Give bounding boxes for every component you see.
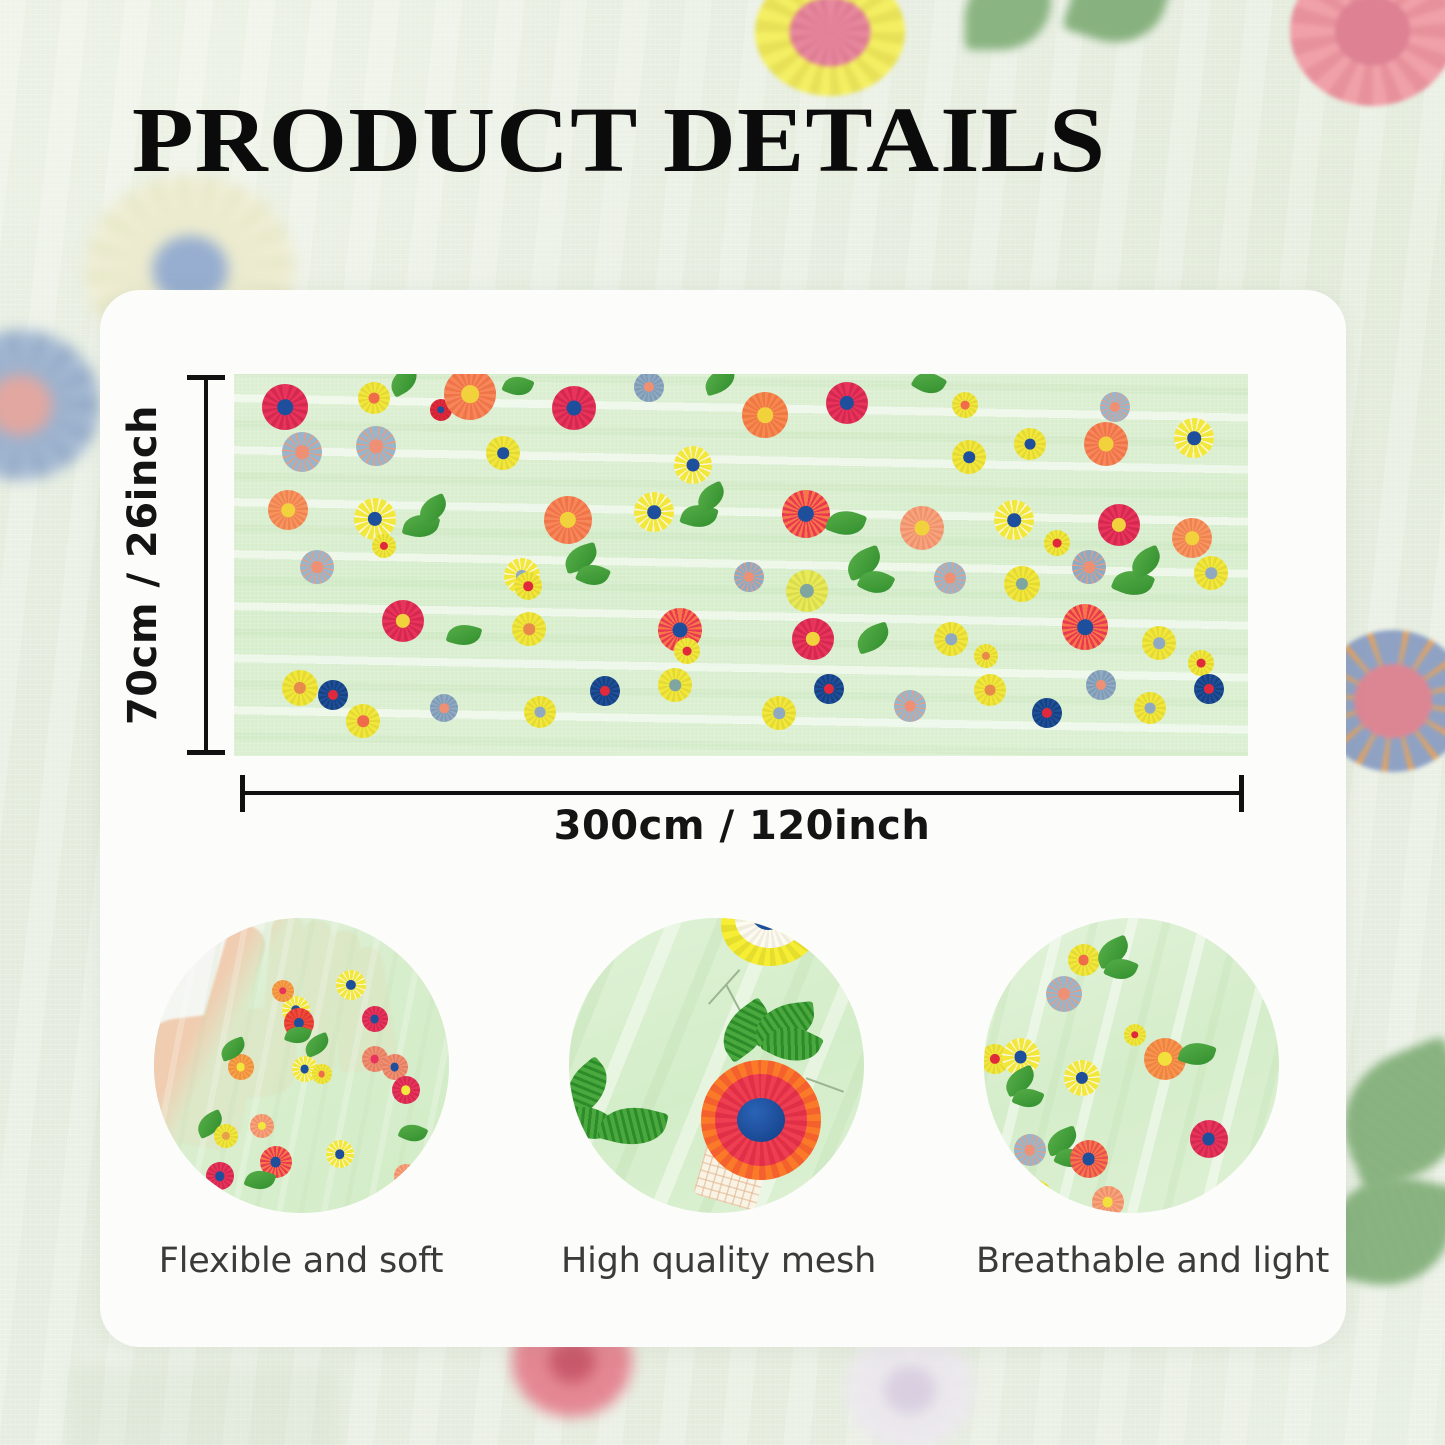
embroidered-flower [1134,692,1166,724]
embroidered-flower-large-center-blue [737,1098,785,1142]
feature-image-breathable-and-light [984,918,1279,1213]
embroidered-flower [674,638,700,664]
embroidered-flower [742,392,788,438]
feature-caption: Flexible and soft [146,1241,456,1281]
embroidered-flower [354,498,396,540]
embroidered-flower [1084,422,1128,466]
embroidered-flower [1068,944,1100,976]
embroidered-flower [1004,566,1040,602]
embroidered-flower [1098,504,1140,546]
height-measure-cap-bottom [187,750,225,755]
embroidered-flower [1190,1120,1228,1158]
embroidered-flower [486,436,520,470]
embroidered-flower [792,618,834,660]
embroidered-flower [544,496,592,544]
height-measure-cap-top [187,375,225,380]
embroidered-flower [214,1124,238,1148]
background-flower-yellow-pink-icon [755,0,905,96]
embroidered-flower [1072,550,1106,584]
embroidered-flower [952,392,978,418]
product-details-page: PRODUCT DETAILS [0,0,1445,1445]
embroidered-flower [394,1164,418,1188]
embroidered-flower [1032,698,1062,728]
embroidered-flower [634,492,674,532]
feature-item: High quality mesh [561,918,871,1281]
embroidered-flower [658,668,692,702]
width-measure-line [240,791,1244,795]
embroidered-flower [356,426,396,466]
embroidered-flower [826,382,868,424]
embroidered-flower [934,562,966,594]
feature-item: Flexible and soft [146,918,456,1281]
height-dimension-label: 70cm / 26inch [120,405,166,725]
embroidered-flower [1070,1140,1108,1178]
background-flower-pale-icon [845,1330,975,1445]
background-flower-blue-icon [0,330,100,480]
embroidered-flower [900,506,944,550]
embroidered-flower [934,622,968,656]
embroidered-flower [282,670,318,706]
embroidered-flower [814,674,844,704]
embroidered-flower [524,696,556,728]
page-title: PRODUCT DETAILS [132,94,1445,187]
embroidered-flower [272,980,294,1002]
embroidered-flower [382,600,424,642]
embroidered-flower [1092,1186,1124,1213]
embroidered-flower [206,1162,234,1190]
embroidered-flower [782,490,830,538]
embroidered-flower [358,382,390,414]
embroidered-flower [1062,604,1108,650]
embroidered-flower [312,1064,332,1084]
height-measure-line [204,375,208,755]
embroidered-flower [346,704,380,738]
embroidered-flower [268,490,308,530]
background-leaf-icon [965,0,1051,50]
embroidered-flower [1014,428,1046,460]
embroidered-flower [1086,670,1116,700]
embroidered-flower [734,562,764,592]
embroidered-flower [1172,518,1212,558]
feature-caption: Breathable and light [976,1241,1286,1281]
feature-highlights: Flexible and soft [100,918,1346,1318]
feature-image-high-quality-mesh [569,918,864,1213]
embroidered-flower [362,1006,388,1032]
embroidered-flower [1020,1180,1052,1212]
embroidered-flower [552,386,596,430]
embroidered-flower [336,970,366,1000]
embroidered-flower [1044,530,1070,556]
embroidered-flower [894,690,926,722]
feature-image-flexible-and-soft [154,918,449,1213]
embroidered-flower [674,446,712,484]
embroidered-flower [430,694,458,722]
embroidered-flower [1194,556,1228,590]
embroidered-flower [762,696,796,730]
embroidered-flower [786,570,828,612]
embroidered-flower [262,384,308,430]
embroidered-flower [514,572,542,600]
embroidered-flower [372,534,396,558]
embroidered-flower [300,550,334,584]
embroidered-flower [1014,1134,1046,1166]
embroidered-flower [994,500,1034,540]
embroidered-flower [1188,650,1214,676]
embroidered-flower [1124,1024,1146,1046]
fabric-swatch-image [234,374,1248,756]
embroidered-flower [952,440,986,474]
background-flower-coral-icon [1290,0,1445,106]
embroidered-flower [1194,674,1224,704]
width-dimension-label: 300cm / 120inch [240,803,1244,849]
embroidered-flower [1064,1060,1100,1096]
embroidered-flower [1100,392,1130,422]
feature-caption: High quality mesh [561,1241,871,1281]
embroidered-flower [1142,626,1176,660]
embroidered-flower [1174,418,1214,458]
embroidered-flower [590,676,620,706]
background-mesh-patch-icon [70,1365,340,1445]
embroidered-flower [392,1076,420,1104]
embroidered-flower [326,1140,354,1168]
embroidered-flower [512,612,546,646]
embroidered-flower [974,644,998,668]
embroidered-flower [318,680,348,710]
embroidered-flower [974,674,1006,706]
feature-item: Breathable and light [976,918,1286,1281]
embroidered-flower [250,1114,274,1138]
embroidered-flower [282,432,322,472]
embroidered-flower [1046,976,1082,1012]
